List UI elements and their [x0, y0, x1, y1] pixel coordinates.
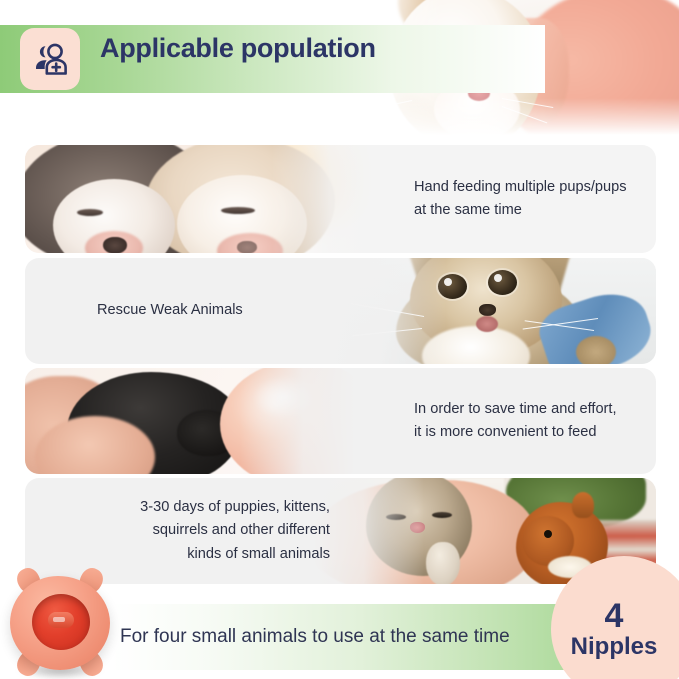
nipple-label: Nipples: [571, 635, 658, 659]
list-item-text: 3-30 days of puppies, kittens, squirrels…: [85, 478, 330, 584]
page-title: Applicable population: [100, 33, 376, 64]
squirrel-eye: [544, 530, 552, 538]
black-puppy-photo: [25, 368, 355, 474]
list-item: 3-30 days of puppies, kittens, squirrels…: [25, 478, 656, 584]
kitten-eye-right: [488, 270, 517, 295]
kitten-mouth: [476, 316, 498, 332]
list-item-line: Hand feeding multiple pups/pups: [414, 176, 627, 199]
users-add-icon: [20, 28, 80, 90]
squirrel-ear: [572, 492, 594, 518]
list-item-line: Rescue Weak Animals: [97, 299, 243, 322]
list-item-line: it is more convenient to feed: [414, 421, 617, 444]
list-item-line: at the same time: [414, 199, 627, 222]
list-item-line: kinds of small animals: [140, 543, 330, 566]
card3-image-fade: [240, 368, 355, 474]
list-item-text: In order to save time and effort, it is …: [414, 368, 656, 474]
kitten-photo: [326, 258, 656, 364]
puppies-photo: [25, 145, 377, 253]
nipple-count: 4: [605, 599, 624, 633]
footer-caption: For four small animals to use at the sam…: [120, 604, 540, 670]
card4-image-fade: [314, 478, 424, 584]
product-center-slot: [48, 612, 74, 628]
list-item: In order to save time and effort, it is …: [25, 368, 656, 474]
hero-bottom-fade: [352, 98, 679, 140]
kitten-paw: [576, 336, 616, 364]
list-item: Hand feeding multiple pups/pups at the s…: [25, 145, 656, 253]
list-item-text: Hand feeding multiple pups/pups at the s…: [414, 145, 654, 253]
newborn-kitten-paw: [426, 542, 460, 584]
kitten-nose: [479, 304, 496, 316]
card1-image-fade: [272, 145, 377, 253]
puppy-tan-nose: [237, 241, 257, 253]
list-item-line: 3-30 days of puppies, kittens,: [140, 496, 330, 519]
infographic-page: Applicable population Hand feeding multi…: [0, 0, 679, 679]
list-item-line: In order to save time and effort,: [414, 398, 617, 421]
product-feeder-image: [2, 568, 118, 676]
list-item-line: squirrels and other different: [140, 519, 330, 542]
newborn-kitten-eye-right: [432, 512, 452, 518]
list-item: Rescue Weak Animals: [25, 258, 656, 364]
puppy-grey-eye: [77, 209, 103, 216]
puppy-tan-eye: [221, 207, 255, 214]
list-item-text: Rescue Weak Animals: [97, 258, 347, 364]
puppy-grey-nose: [103, 237, 127, 253]
